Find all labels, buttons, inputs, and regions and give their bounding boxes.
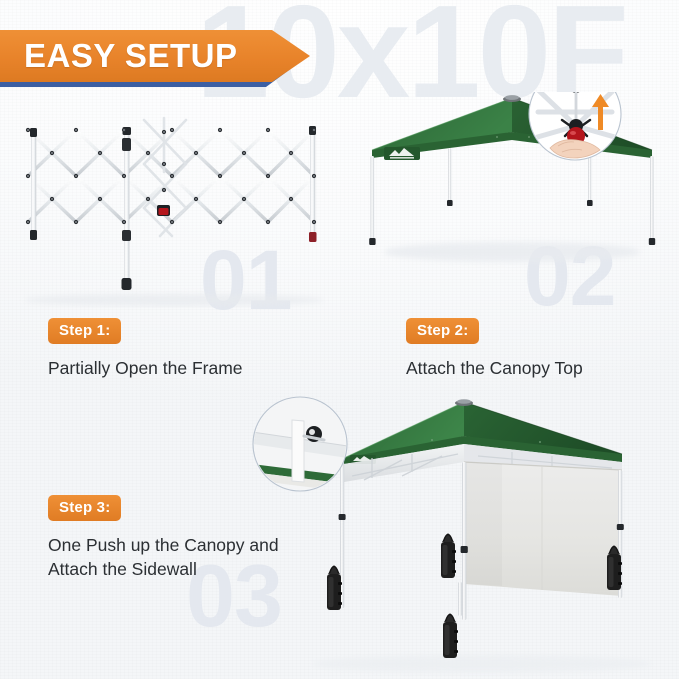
step-1-caption: Step 1: Partially Open the Frame — [48, 318, 243, 381]
banner: EASY SETUP — [0, 30, 330, 90]
weight-bag — [443, 613, 458, 658]
step-2-chip: Step 2: — [406, 318, 479, 344]
step-3-caption: Step 3: One Push up the Canopy and Attac… — [48, 495, 279, 581]
inset-sidewall-clip — [252, 397, 348, 492]
banner-ribbon: EASY SETUP — [0, 30, 310, 82]
illustration-canopy-sidewall — [252, 396, 676, 678]
step-3-chip: Step 3: — [48, 495, 121, 521]
brand-badge-icon — [384, 147, 420, 160]
step-1-text: Partially Open the Frame — [48, 357, 243, 381]
banner-label: EASY SETUP — [0, 37, 237, 75]
step-2-text: Attach the Canopy Top — [406, 357, 583, 381]
step-2-caption: Step 2: Attach the Canopy Top — [406, 318, 583, 381]
infographic-page: 10x10F EASY SETUP 01 02 03 — [0, 0, 679, 679]
illustration-canopy-top — [362, 92, 662, 292]
frame-center-hub — [157, 205, 170, 216]
illustration-folded-frame — [14, 112, 334, 308]
step-3-text: One Push up the Canopy and Attach the Si… — [48, 534, 279, 581]
step-1-chip: Step 1: — [48, 318, 121, 344]
weight-bag — [441, 533, 456, 578]
weight-bag — [327, 565, 342, 610]
